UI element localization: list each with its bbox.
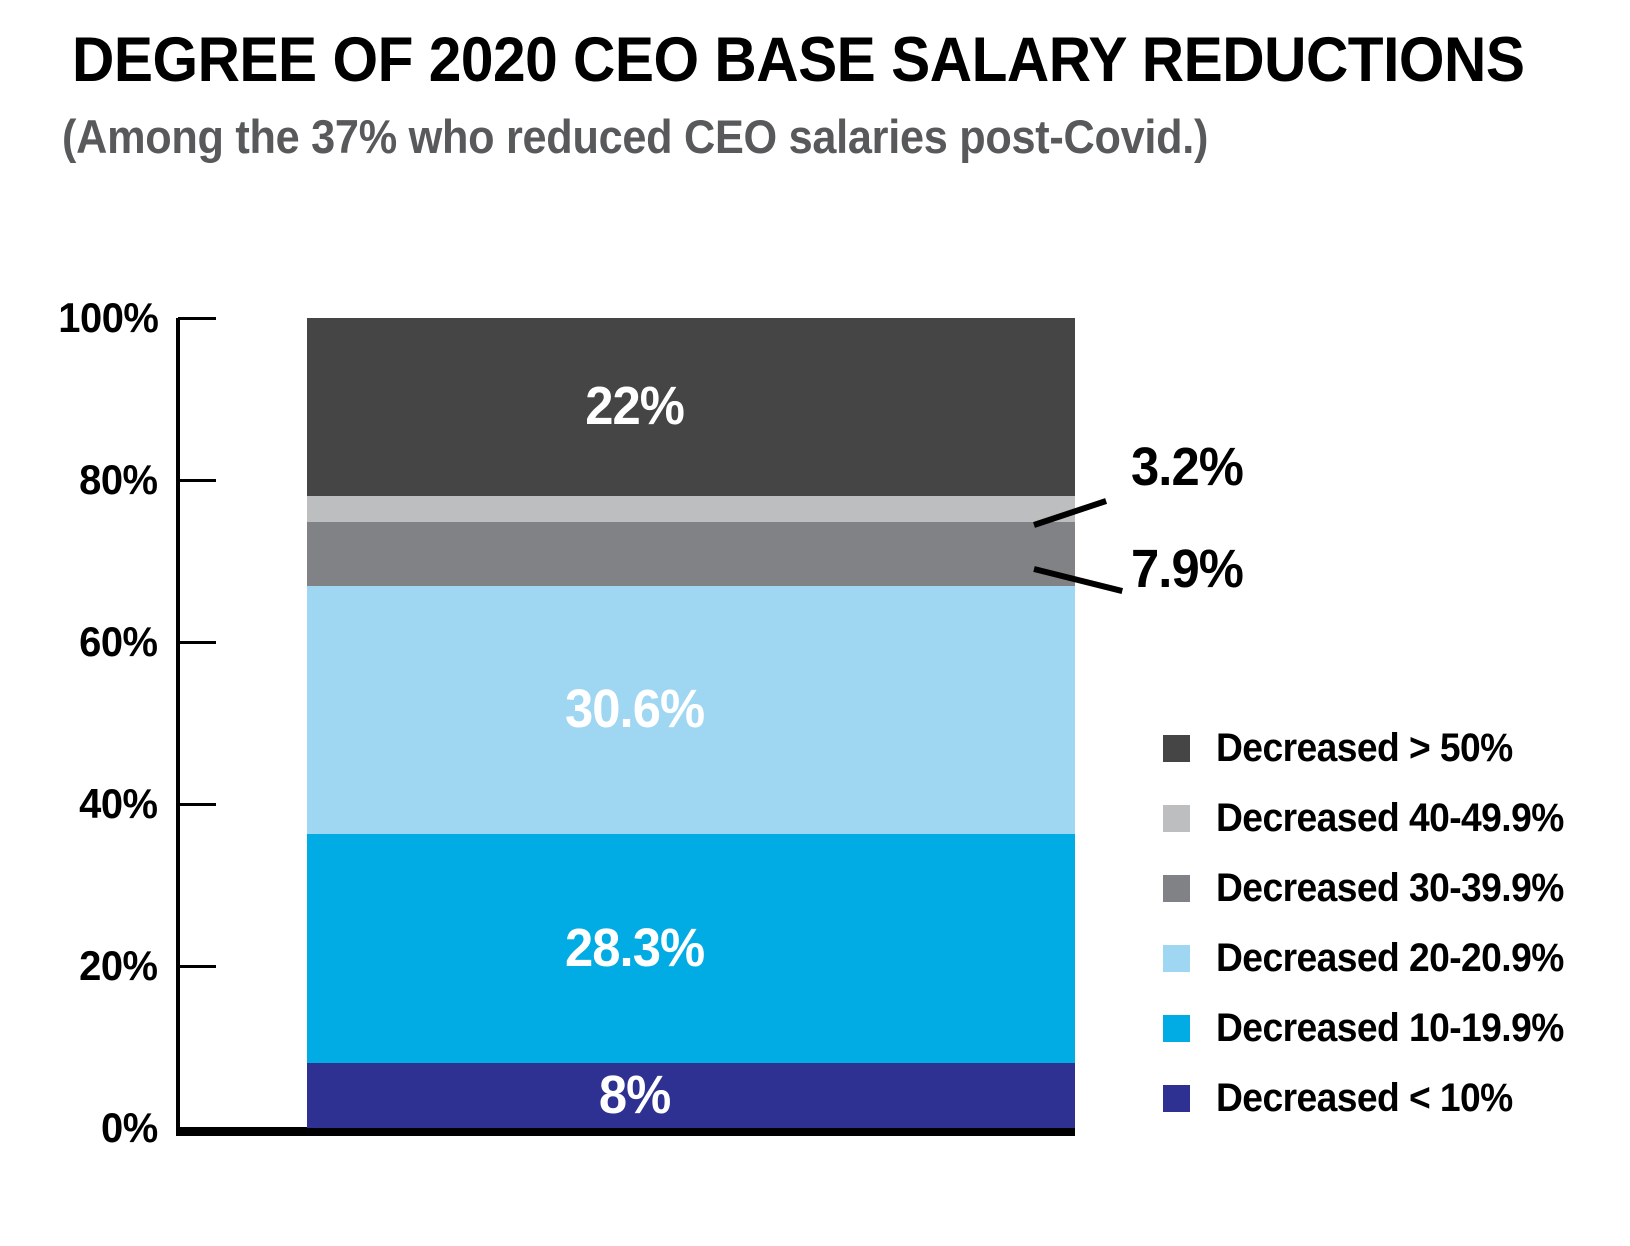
y-tick-label: 100% (58, 297, 158, 339)
legend-item[interactable]: Decreased 30-39.9% (1163, 868, 1590, 908)
callout-label: 7.9% (1131, 542, 1243, 596)
legend-item-label: Decreased < 10% (1216, 1078, 1513, 1118)
legend-item-label: Decreased 40-49.9% (1216, 798, 1564, 838)
y-tick-mark (178, 317, 216, 320)
y-tick-label-wrap: 80% (0, 459, 158, 501)
legend-item[interactable]: Decreased 20-20.9% (1163, 938, 1590, 978)
legend-item-label: Decreased 20-20.9% (1216, 938, 1564, 978)
y-tick-label: 20% (80, 945, 158, 987)
legend-item[interactable]: Decreased 10-19.9% (1163, 1008, 1590, 1048)
y-tick-label: 80% (80, 459, 158, 501)
bar-segment-label: 28.3% (330, 921, 1052, 975)
y-tick-label: 0% (101, 1107, 158, 1149)
y-tick-label-wrap: 20% (0, 945, 158, 987)
bar-segment-label: 22% (330, 379, 1052, 433)
stacked-bar: 8%28.3%30.6%22% (307, 318, 1075, 1128)
y-tick-mark (178, 641, 216, 644)
y-tick-label-wrap: 60% (0, 621, 158, 663)
bar-segment[interactable] (307, 496, 1075, 522)
legend-item[interactable]: Decreased > 50% (1163, 728, 1535, 768)
y-tick-label: 40% (80, 783, 158, 825)
y-tick-label-wrap: 0% (0, 1107, 158, 1149)
chart-canvas: DEGREE OF 2020 CEO BASE SALARY REDUCTION… (0, 0, 1630, 1246)
legend-swatch-icon (1163, 1085, 1190, 1112)
legend-swatch-icon (1163, 805, 1190, 832)
legend-item-label: Decreased > 50% (1216, 728, 1513, 768)
legend-swatch-icon (1163, 945, 1190, 972)
callout-label: 3.2% (1131, 440, 1243, 494)
legend-item-label: Decreased 10-19.9% (1216, 1008, 1564, 1048)
bar-segment[interactable] (307, 522, 1075, 586)
y-tick-mark (178, 803, 216, 806)
y-tick-mark (178, 965, 216, 968)
y-tick-label: 60% (80, 621, 158, 663)
legend-item-label: Decreased 30-39.9% (1216, 868, 1564, 908)
plot-area: 100%80%60%40%20%0% 8%28.3%30.6%22% 3.2%7… (0, 0, 1630, 1246)
y-tick-label-wrap: 100% (0, 297, 158, 339)
legend-swatch-icon (1163, 1015, 1190, 1042)
bar-segment-label: 8% (330, 1068, 1052, 1122)
legend-item[interactable]: Decreased < 10% (1163, 1078, 1535, 1118)
y-tick-mark (178, 479, 216, 482)
bar-segment-label: 30.6% (330, 682, 1052, 736)
x-axis-line (176, 1127, 1075, 1136)
legend-swatch-icon (1163, 735, 1190, 762)
y-tick-label-wrap: 40% (0, 783, 158, 825)
y-axis-line (176, 318, 180, 1131)
legend-swatch-icon (1163, 875, 1190, 902)
legend-item[interactable]: Decreased 40-49.9% (1163, 798, 1590, 838)
